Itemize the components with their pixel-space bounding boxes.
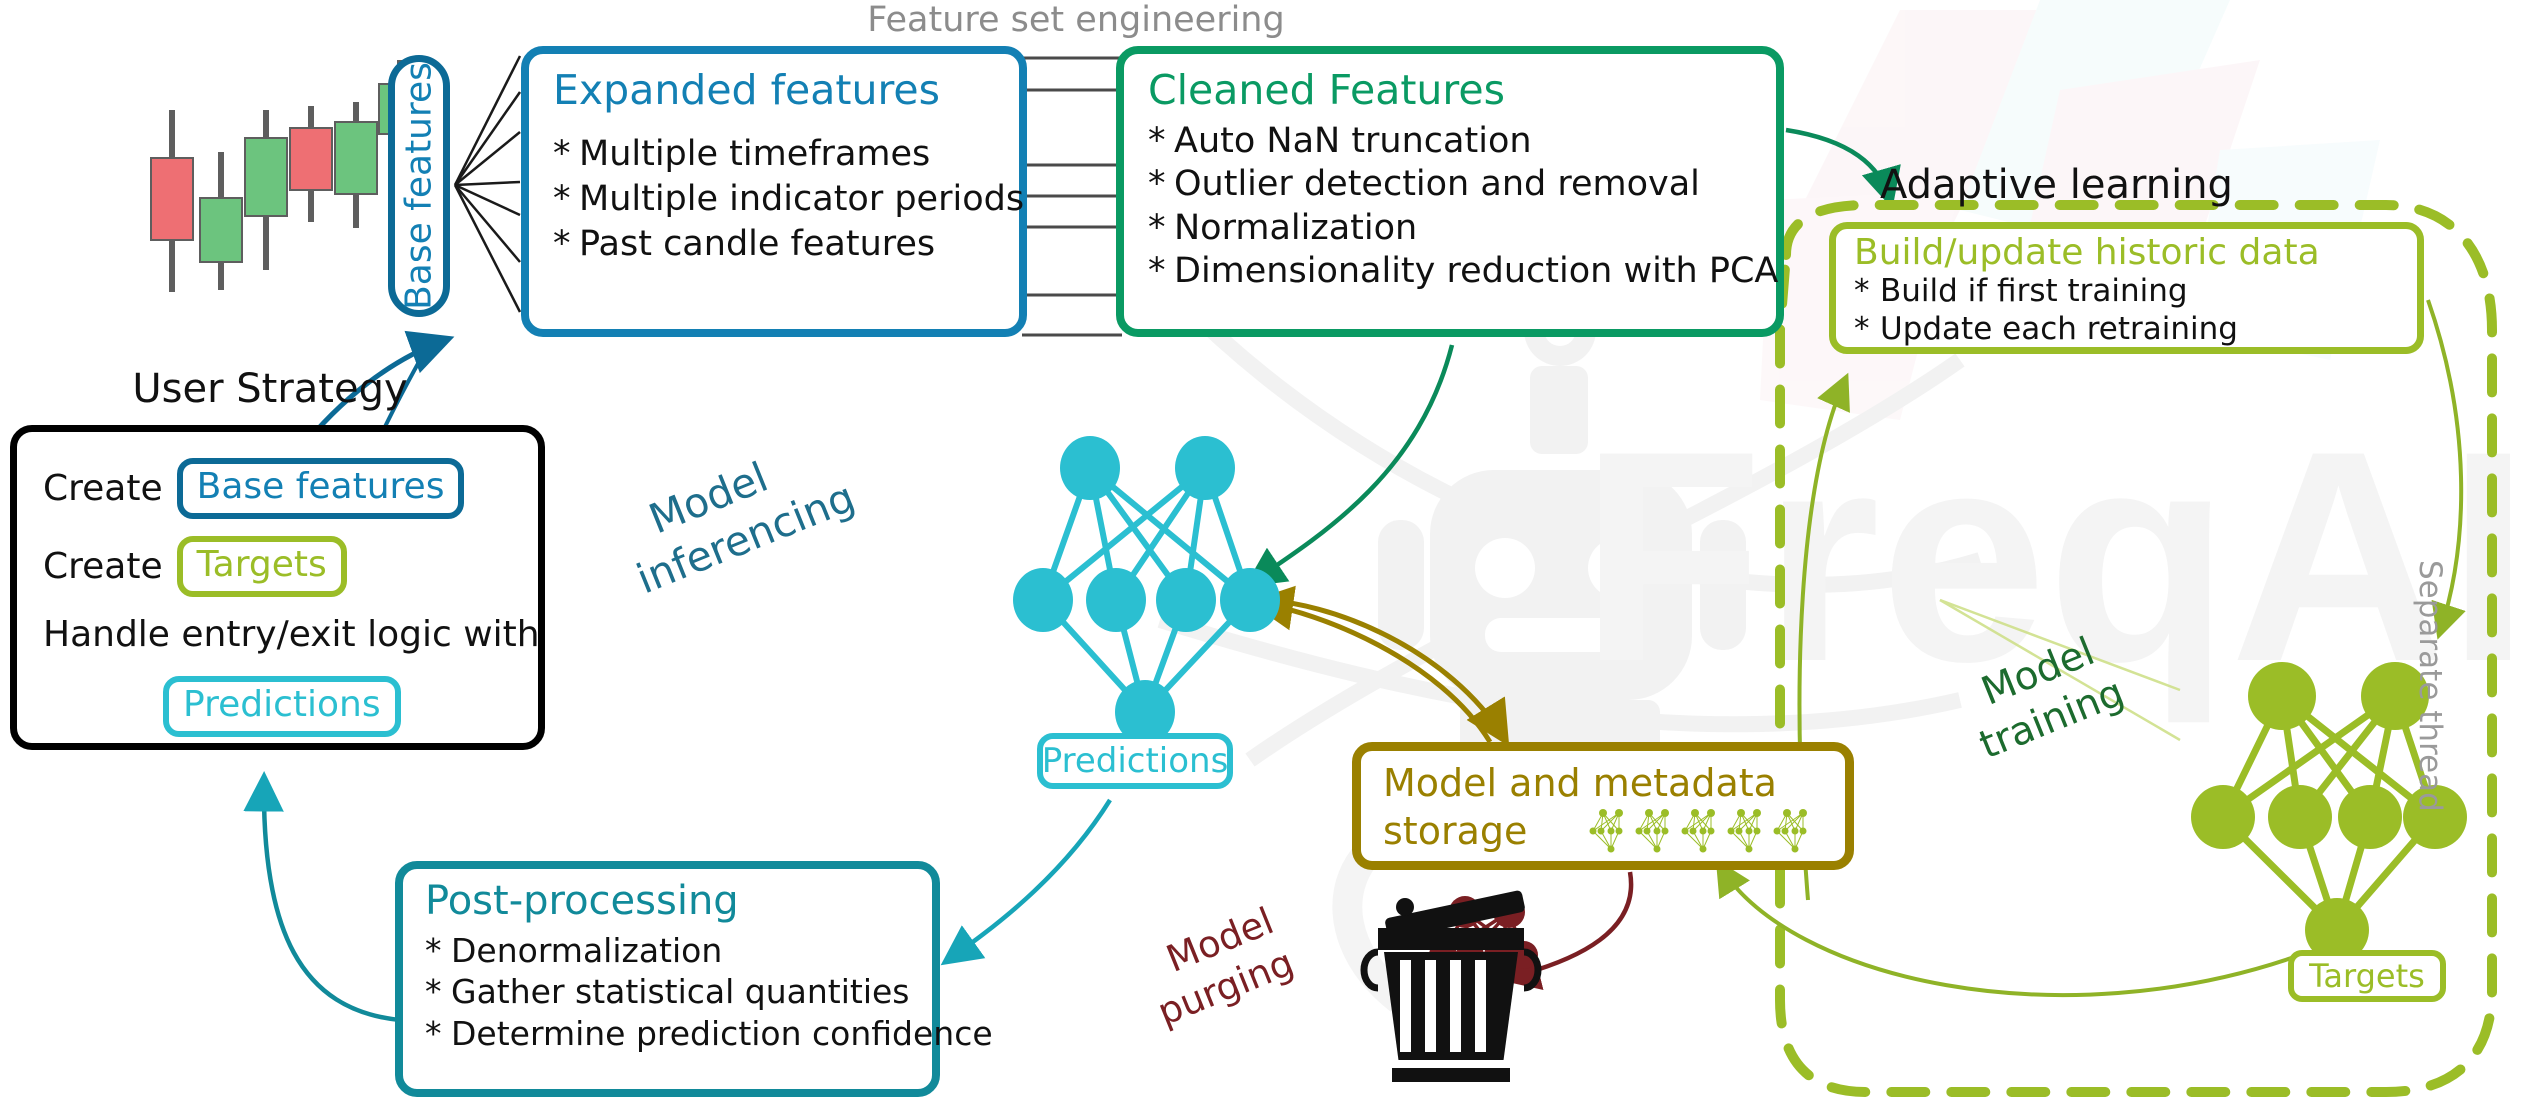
arrow-cleaned-to-adaptive (1786, 130, 1890, 200)
row-prefix: Create (43, 468, 163, 509)
list-item: *Update each retraining (1854, 311, 2403, 349)
build-update-historic-data-box: Build/update historic data *Build if fir… (1829, 222, 2424, 354)
tag-predictions: Predictions (163, 676, 401, 737)
connector-lines-expanded-to-cleaned (1022, 58, 1122, 335)
list-item: *Determine prediction confidence (425, 1013, 916, 1055)
post-processing-list: *Denormalization *Gather statistical qua… (425, 930, 916, 1055)
stored-models-icon (1589, 805, 1849, 855)
expanded-features-list: *Multiple timeframes *Multiple indicator… (553, 132, 999, 266)
separate-thread-label: Separate thread (2412, 560, 2448, 812)
build-update-list: *Build if first training *Update each re… (1854, 273, 2403, 349)
cleaned-features-title: Cleaned Features (1148, 68, 1756, 114)
arrow-inference-net-to-storage (1256, 600, 1504, 738)
tag-base-features: Base features (177, 458, 465, 519)
expanded-features-title: Expanded features (553, 68, 999, 114)
list-item: *Multiple indicator periods (553, 177, 999, 222)
targets-pill-label: Targets (2309, 957, 2425, 995)
tag-targets: Targets (177, 536, 347, 597)
predictions-pill-label: Predictions (1042, 741, 1229, 781)
cleaned-features-box: Cleaned Features *Auto NaN truncation *O… (1116, 46, 1784, 337)
list-item: *Multiple timeframes (553, 132, 999, 177)
fan-lines-base-to-expanded (455, 56, 520, 312)
purged-neural-net (1443, 912, 1524, 1005)
predictions-pill: Predictions (1037, 733, 1233, 789)
row-prefix: Handle entry/exit logic with (43, 614, 540, 655)
build-update-title: Build/update historic data (1854, 233, 2403, 273)
list-item: *Auto NaN truncation (1148, 120, 1756, 163)
inference-neural-net (1043, 468, 1250, 712)
strategy-row-logic: Handle entry/exit logic with (43, 614, 540, 655)
list-item: *Gather statistical quantities (425, 971, 916, 1013)
feature-set-engineering-label: Feature set engineering (866, 0, 1286, 40)
model-training-label: Model training (1975, 624, 2131, 763)
model-storage-line1: Model and metadata (1383, 761, 1777, 805)
arrow-cleaned-to-inference-net (1252, 345, 1452, 582)
base-features-pill: Base features (388, 55, 450, 317)
model-purging-label: Model purging (1160, 897, 1301, 1026)
strategy-row-targets: Create Targets (43, 536, 347, 597)
training-neural-net (2223, 696, 2435, 930)
list-item: *Outlier detection and removal (1148, 163, 1756, 206)
list-item: *Dimensionality reduction with PCA (1148, 250, 1756, 293)
row-prefix: Create (43, 546, 163, 587)
strategy-row-predictions: Predictions (163, 676, 401, 737)
expanded-features-box: Expanded features *Multiple timeframes *… (521, 46, 1027, 337)
cleaned-features-list: *Auto NaN truncation *Outlier detection … (1148, 120, 1756, 294)
model-inferencing-label: Model inferencing (642, 425, 862, 594)
arrow-training-to-storage (1720, 866, 2300, 995)
list-item: *Denormalization (425, 930, 916, 972)
arrow-storage-to-purging (1508, 872, 1631, 978)
user-strategy-title: User Strategy (60, 366, 480, 412)
post-processing-title: Post-processing (425, 879, 916, 924)
adaptive-learning-title: Adaptive learning (1880, 162, 2410, 208)
arrow-postprocessing-to-strategy (264, 780, 400, 1020)
diagram-canvas: FreqAI (0, 0, 2539, 1104)
list-item: *Past candle features (553, 222, 999, 267)
base-features-pill-label: Base features (399, 62, 440, 310)
arrow-predictions-to-postprocessing (948, 800, 1110, 960)
list-item: *Normalization (1148, 207, 1756, 250)
model-storage-box: Model and metadata storage (1352, 742, 1854, 870)
strategy-row-base-features: Create Base features (43, 458, 464, 519)
arrow-storage-to-inference-net (1258, 603, 1490, 742)
model-storage-line2: storage (1383, 809, 1527, 853)
targets-pill: Targets (2288, 950, 2446, 1002)
list-item: *Build if first training (1854, 273, 2403, 311)
post-processing-box: Post-processing *Denormalization *Gather… (395, 861, 940, 1097)
user-strategy-box: Create Base features Create Targets Hand… (10, 425, 545, 750)
trash-can-icon (1364, 890, 1538, 1082)
